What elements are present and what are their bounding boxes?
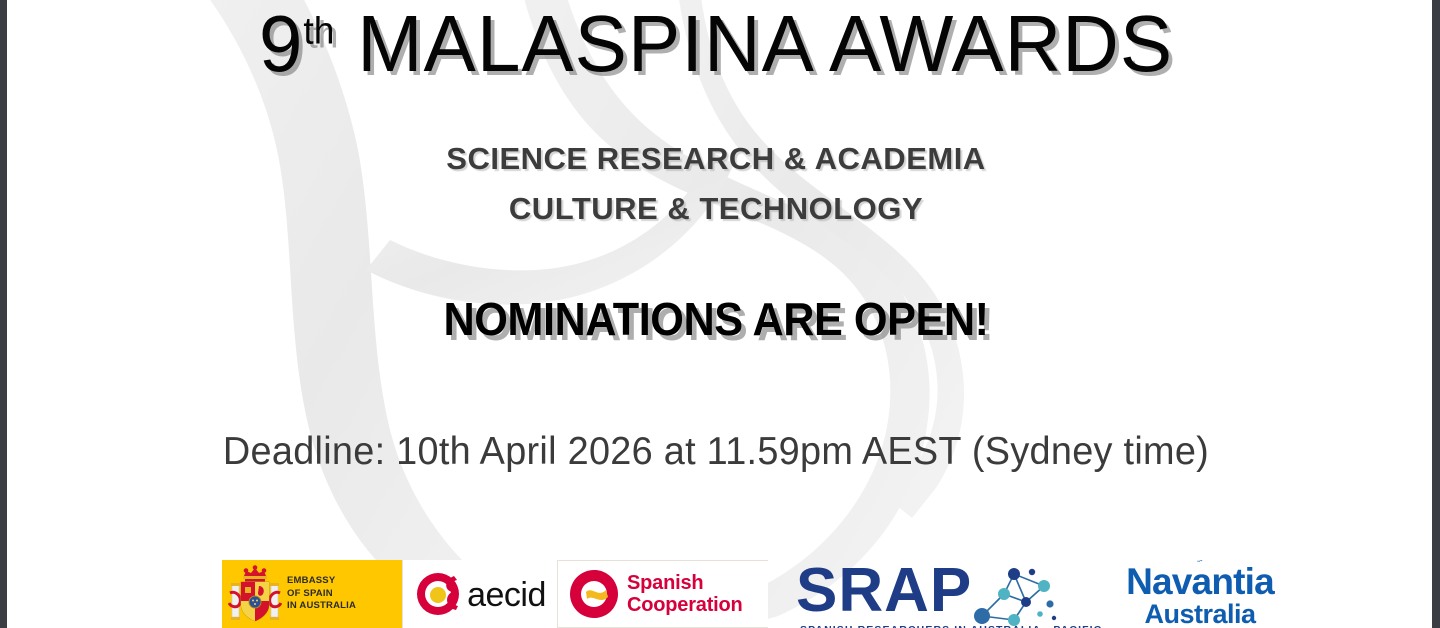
title-ordinal-suffix: th [303, 10, 334, 52]
sponsor-logo-aecid[interactable]: aecid [402, 560, 557, 628]
network-nodes-icon [974, 564, 1060, 626]
spanish-cooperation-wordmark: Spanish Cooperation [627, 572, 743, 617]
poster-title: 9th MALASPINA AWARDS [14, 0, 1417, 90]
deadline-text: Deadline: 10th April 2026 at 11.59pm AES… [21, 430, 1410, 474]
embassy-line-3: IN AUSTRALIA [287, 600, 356, 613]
title-main-text: MALASPINA AWARDS [335, 0, 1174, 88]
navantia-wordmark: Navantia [1126, 563, 1274, 600]
aecid-c-mark-icon [414, 570, 462, 618]
logo-strip-spacer [768, 560, 796, 628]
page-edge-left [0, 0, 7, 628]
embassy-line-2: OF SPAIN [287, 588, 356, 601]
sponsor-logo-strip: EMBASSY OF SPAIN IN AUSTRALIA aecid [222, 560, 1372, 628]
spanish-coat-of-arms-icon [228, 563, 282, 625]
navantia-sub-wordmark: Australia [1144, 601, 1255, 628]
sponsor-logo-srap[interactable]: SRAP [796, 560, 1086, 628]
coop-line-2: Cooperation [627, 594, 743, 616]
sponsor-logo-navantia-australia[interactable]: Navantia Australia [1110, 560, 1290, 628]
sponsor-logo-spanish-cooperation[interactable]: Spanish Cooperation [557, 560, 768, 628]
malaspina-awards-poster: 9th MALASPINA AWARDS SCIENCE RESEARCH & … [0, 0, 1440, 628]
subtitle-line-2: CULTURE & TECHNOLOGY [0, 191, 1432, 227]
srap-wordmark: SRAP [796, 562, 972, 621]
embassy-line-1: EMBASSY [287, 575, 356, 588]
nominations-headline: NOMINATIONS ARE OPEN! [43, 292, 1389, 346]
srap-tagline: SPANISH RESEARCHERS IN AUSTRALIA - PACIF… [800, 624, 1102, 628]
coop-line-1: Spanish [627, 572, 743, 594]
subtitle-line-1: SCIENCE RESEARCH & ACADEMIA [0, 141, 1432, 177]
embassy-wordmark: EMBASSY OF SPAIN IN AUSTRALIA [287, 575, 356, 613]
page-edge-right [1432, 0, 1440, 628]
sponsor-logo-embassy-of-spain[interactable]: EMBASSY OF SPAIN IN AUSTRALIA [222, 560, 402, 628]
aecid-wordmark: aecid [467, 576, 546, 615]
spanish-cooperation-c-mark-icon [568, 568, 620, 620]
title-ordinal-number: 9 [259, 0, 304, 88]
